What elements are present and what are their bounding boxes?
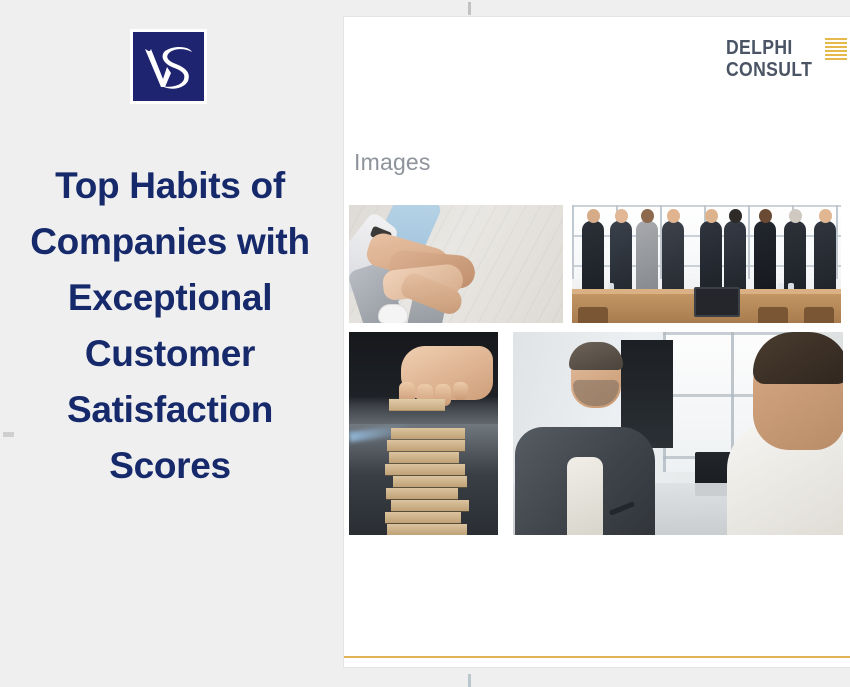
photo-foreground-hair [753,332,843,384]
image-team-hands-stacked[interactable] [349,205,563,323]
page-title: Top Habits of Companies with Exceptional… [14,158,326,494]
photo-chair [804,307,834,323]
slide-editor-screen: Top Habits of Companies with Exceptional… [0,0,850,687]
photo-man-shirt [567,457,603,535]
footer-accent-rule [344,656,850,658]
photo-person [662,221,684,295]
ruler-tick-bottom-icon [468,674,471,687]
photo-chair [578,307,608,323]
photo-foreground-person [725,332,843,535]
image-businessman-conversation[interactable] [513,332,843,535]
photo-laptop [694,287,740,317]
slide-title-panel: Top Habits of Companies with Exceptional… [0,0,340,687]
section-label-images: Images [354,149,431,176]
photo-person [754,221,776,295]
image-grid [349,205,846,535]
photo-shoe [379,305,407,323]
photo-person [814,221,836,295]
ruler-tick-top-icon [468,2,471,15]
photo-person [700,221,722,295]
delphi-stripes-icon [825,38,847,62]
photo-person [636,221,658,295]
document-page[interactable]: DELPHI CONSULT Images [344,17,850,667]
delphi-logo-line1: DELPHI [726,37,812,59]
photo-finger [453,382,468,400]
delphi-logo-line2: CONSULT [726,59,812,81]
image-grid-row [349,205,846,323]
image-wooden-block-tower[interactable] [349,332,498,535]
delphi-consult-logo-text: DELPHI CONSULT [726,37,812,81]
photo-top-block [389,399,445,410]
ruler-tick-left-icon [3,432,14,437]
document-preview-area: DELPHI CONSULT Images [340,0,850,687]
photo-person [724,221,746,295]
photo-person [582,221,604,295]
photo-chair [758,307,788,323]
delphi-consult-logo: DELPHI CONSULT [726,37,847,81]
image-grid-row [349,332,846,535]
image-boardroom-business-group[interactable] [572,205,841,323]
photo-block-tower [385,423,469,535]
vs-monogram-logo-icon [130,29,207,104]
